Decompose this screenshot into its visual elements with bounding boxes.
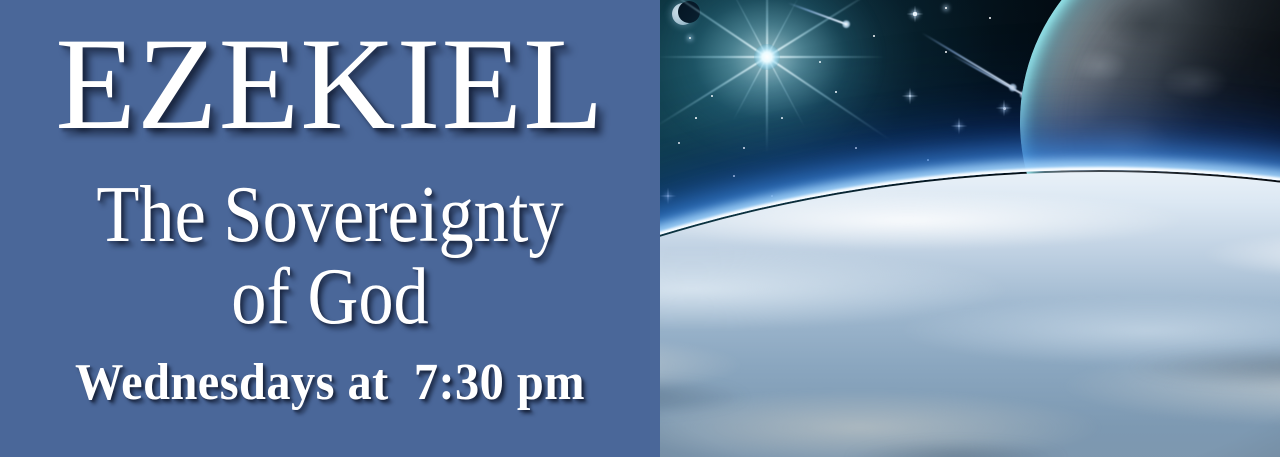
ezekiel-series-banner: EZEKIEL The Sovereignty of God Wednesday… (0, 0, 1280, 457)
space-photograph (660, 0, 1280, 457)
earth-surface (660, 172, 1280, 457)
series-title: EZEKIEL (0, 18, 660, 150)
star-core (754, 44, 780, 70)
star-ray (660, 56, 767, 58)
star-ray (767, 56, 885, 58)
star-ray (766, 57, 768, 153)
meeting-time: Wednesdays at 7:30 pm (23, 357, 637, 409)
text-panel: EZEKIEL The Sovereignty of God Wednesday… (0, 0, 660, 457)
surface-haze (660, 172, 1280, 457)
series-subtitle: The Sovereignty of God (40, 174, 621, 339)
